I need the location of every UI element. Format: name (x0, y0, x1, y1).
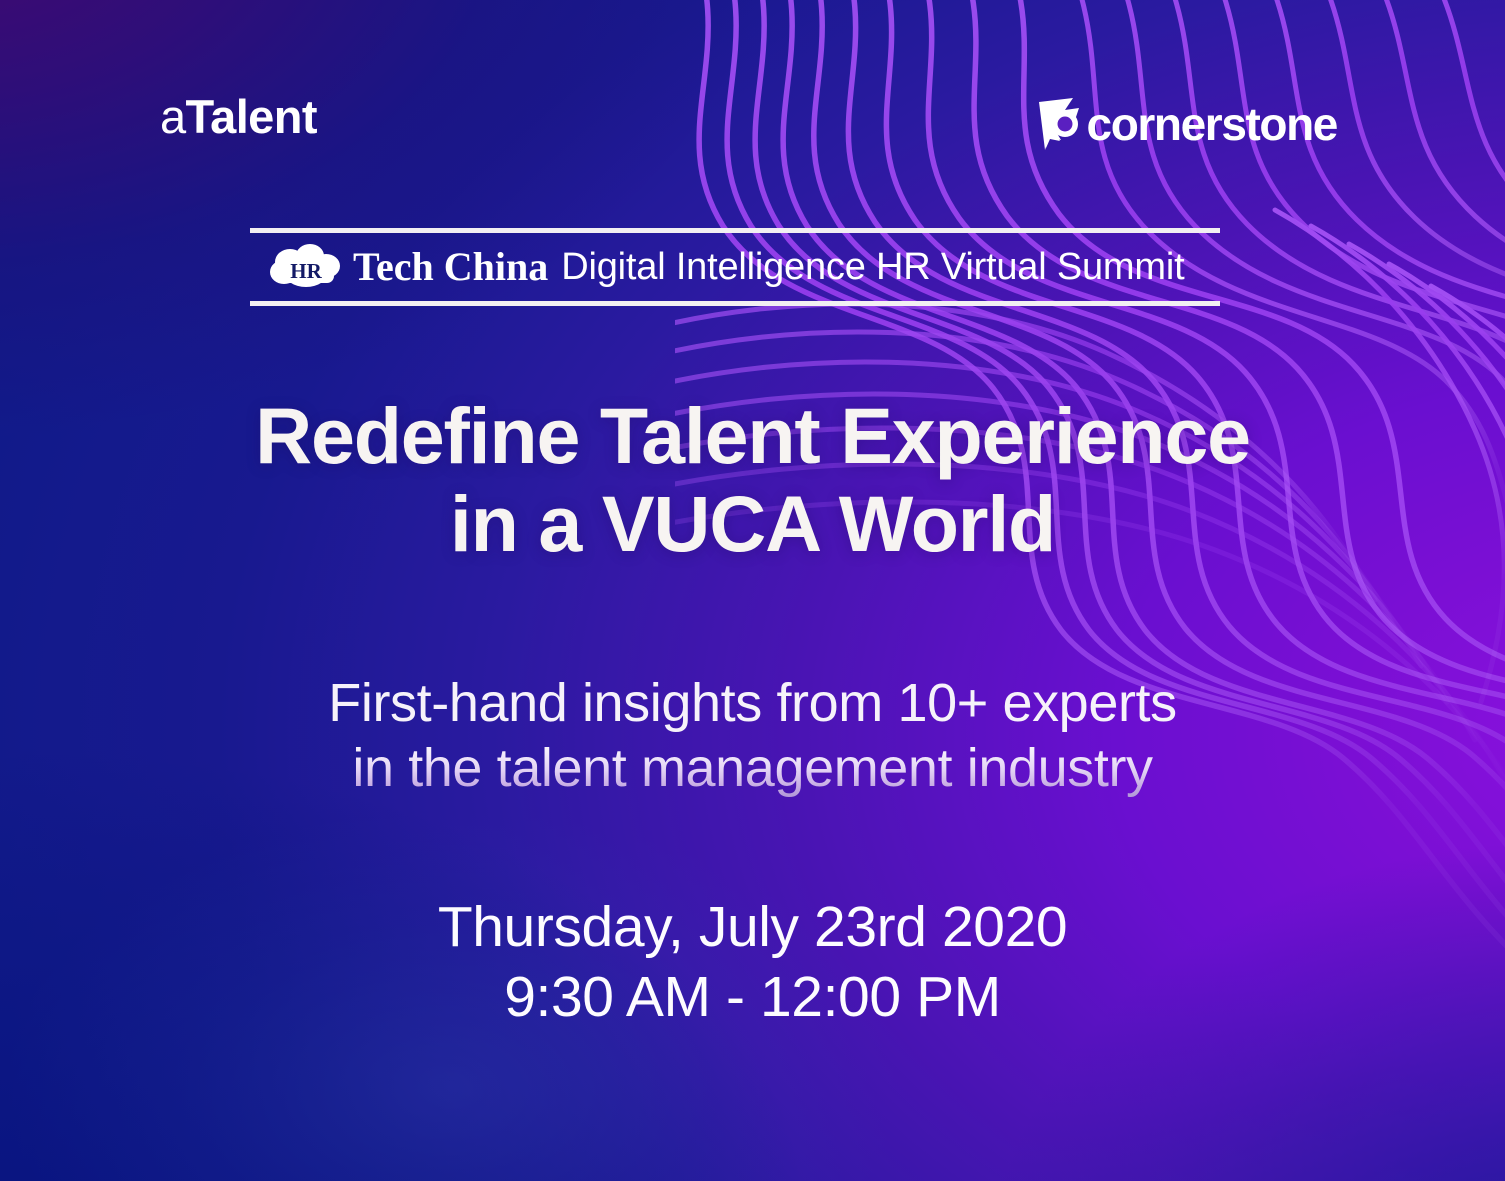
hr-cloud-icon: HR (268, 242, 353, 292)
cornerstone-logo[interactable]: cornerstone (1035, 96, 1337, 152)
atalent-logo-prefix: a (160, 90, 186, 143)
headline-line-2: in a VUCA World (450, 479, 1055, 568)
event-poster: aTalent cornerstone (0, 0, 1505, 1181)
cornerstone-logo-text: cornerstone (1087, 101, 1337, 147)
event-date: Thursday, July 23rd 2020 (0, 893, 1505, 963)
headline: Redefine Talent Experience in a VUCA Wor… (0, 392, 1505, 567)
hrtech-china-label: Tech China (353, 247, 548, 287)
atalent-logo[interactable]: aTalent (160, 93, 317, 140)
svg-text:HR: HR (290, 259, 322, 283)
subtitle-line-1: First-hand insights from 10+ experts (0, 671, 1505, 736)
summit-rule-bottom (250, 301, 1220, 306)
summit-banner-row: HR Tech China Digital Intelligence HR Vi… (250, 233, 1220, 301)
event-datetime: Thursday, July 23rd 2020 9:30 AM - 12:00… (0, 893, 1505, 1032)
event-time: 9:30 AM - 12:00 PM (0, 963, 1505, 1033)
atalent-logo-main: Talent (186, 90, 317, 143)
summit-banner: HR Tech China Digital Intelligence HR Vi… (250, 228, 1220, 306)
summit-title-label: Digital Intelligence HR Virtual Summit (561, 248, 1184, 286)
subtitle: First-hand insights from 10+ experts in … (0, 671, 1505, 802)
headline-line-1: Redefine Talent Experience (255, 391, 1250, 480)
subtitle-line-2: in the talent management industry (0, 736, 1505, 801)
cornerstone-chevron-icon (1035, 96, 1087, 152)
